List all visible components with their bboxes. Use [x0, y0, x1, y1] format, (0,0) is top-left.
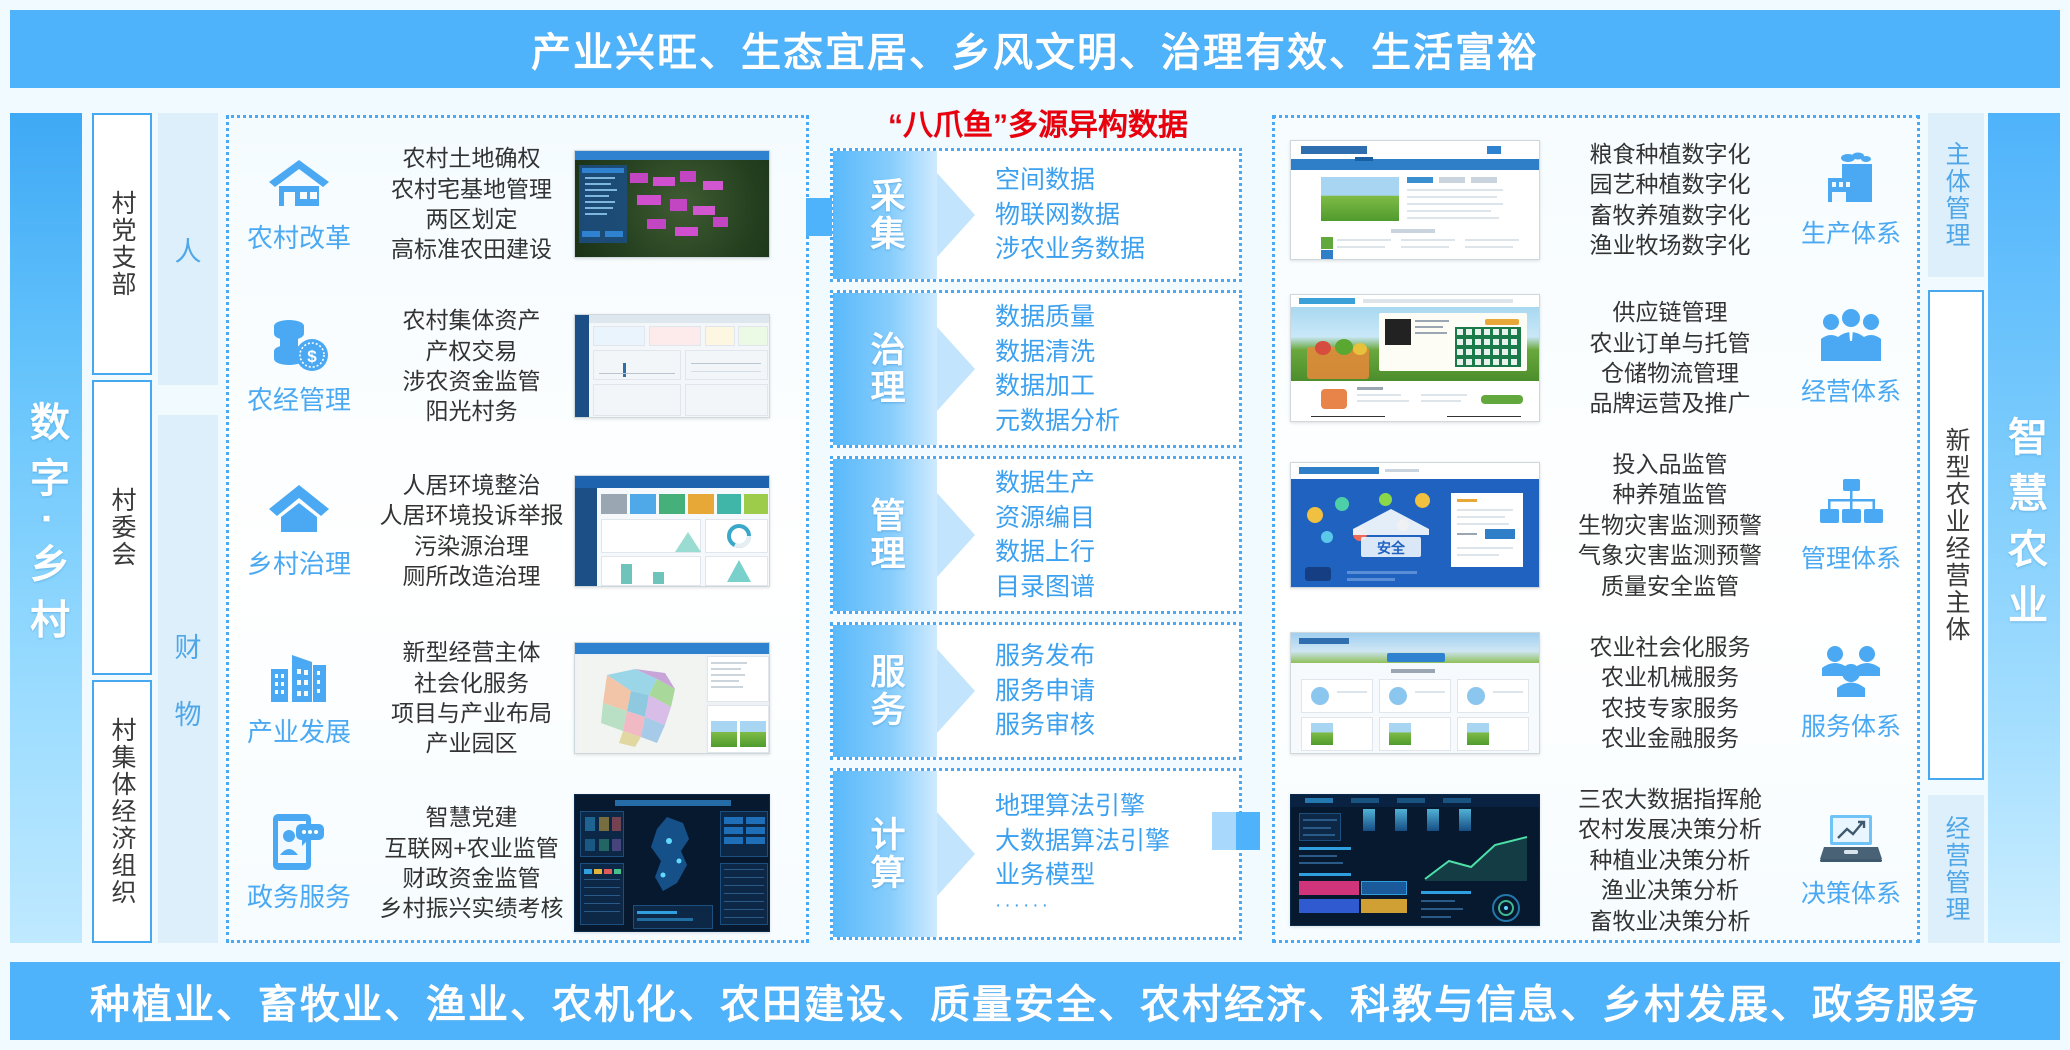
- smart-agriculture-title: 智慧农业: [1995, 416, 2053, 640]
- module-row-rural-governance[interactable]: 乡村治理 人居环境整治 人居环境投诉举报 污染源治理 厕所改造治理: [229, 448, 812, 613]
- stage-item: 服务审核: [995, 708, 1095, 743]
- stage-label-text: 治理: [860, 331, 911, 407]
- resource-char: 人: [175, 230, 202, 269]
- stage-govern[interactable]: 治理 数据质量 数据清洗 数据加工 元数据分析: [830, 290, 1242, 448]
- stage-item: 数据加工: [995, 369, 1120, 404]
- right-label-operation-management: 经营管理: [1928, 795, 1984, 943]
- module-caption: 产业发展: [247, 712, 351, 749]
- stage-item: 空间数据: [995, 163, 1145, 198]
- system-item: 粮食种植数字化: [1555, 139, 1785, 169]
- stage-label: 计算: [833, 771, 937, 937]
- module-screenshot-cell[interactable]: [574, 150, 812, 258]
- food-safety-campaign-screenshot[interactable]: 安全: [1290, 462, 1540, 588]
- group-people-icon: [1818, 308, 1884, 366]
- system-screenshot-cell[interactable]: [1275, 632, 1555, 754]
- system-item: 渔业决策分析: [1555, 875, 1785, 905]
- module-icon-cell: 农村改革: [229, 154, 369, 255]
- stage-label: 采集: [833, 151, 937, 279]
- stage-label-text: 管理: [860, 497, 911, 573]
- module-caption: 乡村治理: [247, 544, 351, 581]
- stage-item: 资源编目: [995, 501, 1095, 536]
- digital-village-title: 数字·乡村: [17, 401, 75, 654]
- three-users-icon: [1819, 643, 1883, 701]
- system-item: 园艺种植数字化: [1555, 169, 1785, 199]
- stage-label: 治理: [833, 293, 937, 445]
- system-item: 气象灾害监测预警: [1555, 540, 1785, 570]
- stage-item: 涉农业务数据: [995, 232, 1145, 267]
- system-icon-cell: 管理体系: [1785, 475, 1917, 575]
- system-icon-cell: 生产体系: [1785, 150, 1917, 250]
- stage-collect[interactable]: 采集 空间数据 物联网数据 涉农业务数据: [830, 148, 1242, 282]
- module-items: 农村集体资产 产权交易 涉农资金监管 阳光村务: [369, 305, 574, 426]
- system-item: 畜牧业决策分析: [1555, 906, 1785, 936]
- system-item: 畜牧养殖数字化: [1555, 200, 1785, 230]
- stage-label-text: 采集: [860, 177, 911, 253]
- new-agri-operator-label: 新型农业经营主体: [1938, 427, 1974, 643]
- system-screenshot-cell[interactable]: [1275, 294, 1555, 422]
- governance-dashboard-screenshot[interactable]: [574, 475, 770, 587]
- resource-column-people: 人: [158, 113, 218, 385]
- system-item: 投入品监管: [1555, 449, 1785, 479]
- village-modules-panel: 农村改革 农村土地确权 农村宅基地管理 两区划定 高标准农田建设: [226, 115, 809, 943]
- org-tree-icon: [1818, 475, 1884, 533]
- smart-agriculture-bar: 智慧农业: [1988, 113, 2060, 943]
- home-roof-icon: [267, 480, 331, 538]
- system-item: 质量安全监管: [1555, 571, 1785, 601]
- module-item: 产业园区: [369, 728, 574, 758]
- agri-portal-website-screenshot[interactable]: [1290, 140, 1540, 260]
- module-icon-cell: 政务服务: [229, 813, 369, 914]
- stage-item: 大数据算法引擎: [995, 824, 1170, 859]
- top-banner: 产业兴旺、生态宜居、乡风文明、治理有效、生活富裕: [10, 10, 2060, 88]
- new-agri-operator-box[interactable]: 新型农业经营主体: [1928, 290, 1984, 780]
- bottom-banner-text: 种植业、畜牧业、渔业、农机化、农田建设、质量安全、农村经济、科教与信息、乡村发展…: [90, 972, 1980, 1030]
- module-item: 产权交易: [369, 336, 574, 366]
- satellite-map-parcel-screenshot[interactable]: [574, 150, 770, 258]
- system-item: 种养殖监管: [1555, 479, 1785, 509]
- system-item: 农业机械服务: [1555, 662, 1785, 692]
- module-row-industry-development[interactable]: 产业发展 新型经营主体 社会化服务 项目与产业布局 产业园区: [229, 618, 812, 778]
- module-item: 涉农资金监管: [369, 366, 574, 396]
- system-caption: 生产体系: [1801, 214, 1901, 250]
- module-item: 两区划定: [369, 204, 574, 234]
- stage-item: ······: [995, 893, 1170, 919]
- module-screenshot-cell[interactable]: [574, 642, 812, 754]
- right-label-text: 主体管理: [1938, 141, 1974, 249]
- right-label-text: 经营管理: [1938, 815, 1974, 923]
- system-screenshot-cell[interactable]: 安全: [1275, 462, 1555, 588]
- module-item: 人居环境整治: [369, 470, 574, 500]
- org-box-village-committee[interactable]: 村委会: [92, 380, 152, 675]
- system-item: 农业金融服务: [1555, 723, 1785, 753]
- module-item: 互联网+农业监管: [369, 833, 574, 863]
- bottom-banner: 种植业、畜牧业、渔业、农机化、农田建设、质量安全、农村经济、科教与信息、乡村发展…: [10, 962, 2060, 1040]
- right-label-subject-management: 主体管理: [1928, 113, 1984, 277]
- module-items: 新型经营主体 社会化服务 项目与产业布局 产业园区: [369, 637, 574, 758]
- system-items: 农业社会化服务 农业机械服务 农技专家服务 农业金融服务: [1555, 632, 1785, 753]
- system-caption: 服务体系: [1801, 707, 1901, 743]
- module-item: 农村土地确权: [369, 143, 574, 173]
- system-items: 粮食种植数字化 园艺种植数字化 畜牧养殖数字化 渔业牧场数字化: [1555, 139, 1785, 260]
- digital-village-bar: 数字·乡村: [10, 113, 82, 943]
- module-item: 人居环境投诉举报: [369, 500, 574, 530]
- resource-char: 财: [175, 626, 202, 665]
- system-item: 农技专家服务: [1555, 693, 1785, 723]
- top-banner-text: 产业兴旺、生态宜居、乡风文明、治理有效、生活富裕: [531, 20, 1539, 78]
- system-icon-cell: 服务体系: [1785, 643, 1917, 743]
- module-item: 高标准农田建设: [369, 234, 574, 264]
- right-connector-tab: [1236, 812, 1260, 850]
- left-connector-tab: [806, 198, 832, 236]
- system-caption: 管理体系: [1801, 539, 1901, 575]
- province-map-screenshot[interactable]: [574, 642, 770, 754]
- module-items: 人居环境整治 人居环境投诉举报 污染源治理 厕所改造治理: [369, 470, 574, 591]
- stage-item: 数据上行: [995, 535, 1095, 570]
- org-box-collective-economy[interactable]: 村集体经济组织: [92, 680, 152, 943]
- org-box-label: 村党支部: [104, 190, 140, 298]
- resource-char: 物: [175, 693, 202, 732]
- org-box-label: 村集体经济组织: [104, 717, 140, 906]
- system-items: 供应链管理 农业订单与托管 仓储物流管理 品牌运营及推广: [1555, 297, 1785, 418]
- module-item: 厕所改造治理: [369, 561, 574, 591]
- factory-icon: [1820, 150, 1882, 208]
- system-row-operation[interactable]: 供应链管理 农业订单与托管 仓储物流管理 品牌运营及推广 经营体系: [1275, 278, 1917, 438]
- module-item: 污染源治理: [369, 531, 574, 561]
- module-item: 乡村振兴实绩考核: [369, 893, 574, 923]
- stage-label: 管理: [833, 459, 937, 611]
- stage-item: 数据质量: [995, 300, 1120, 335]
- system-row-decision[interactable]: 三农大数据指挥舱 农村发展决策分析 种植业决策分析 渔业决策分析 畜牧业决策分析…: [1275, 776, 1917, 944]
- stage-manage[interactable]: 管理 数据生产 资源编目 数据上行 目录图谱: [830, 456, 1242, 614]
- platform-column: “八爪鱼”多源异构数据 整合共享平台 采集 空间数据 物联网数据 涉农业务数据 …: [818, 100, 1258, 950]
- module-item: 农村集体资产: [369, 305, 574, 335]
- system-caption: 经营体系: [1801, 372, 1901, 408]
- system-item: 农业社会化服务: [1555, 632, 1785, 662]
- module-items: 农村土地确权 农村宅基地管理 两区划定 高标准农田建设: [369, 143, 574, 264]
- buildings-icon: [267, 648, 331, 706]
- org-box-party-branch[interactable]: 村党支部: [92, 113, 152, 375]
- stage-item: 数据生产: [995, 466, 1095, 501]
- system-items: 投入品监管 种养殖监管 生物灾害监测预警 气象灾害监测预警 质量安全监管: [1555, 449, 1785, 601]
- bigdata-cockpit-screenshot[interactable]: [1290, 794, 1540, 926]
- system-item: 仓储物流管理: [1555, 358, 1785, 388]
- svg-text:$: $: [307, 347, 317, 366]
- module-caption: 政务服务: [247, 877, 351, 914]
- stage-item: 服务申请: [995, 674, 1095, 709]
- stage-item: 元数据分析: [995, 404, 1120, 439]
- system-screenshot-cell[interactable]: [1275, 794, 1555, 926]
- module-item: 项目与产业布局: [369, 698, 574, 728]
- module-icon-cell: 乡村治理: [229, 480, 369, 581]
- stage-item: 地理算法引擎: [995, 789, 1170, 824]
- stage-label-text: 服务: [860, 653, 911, 729]
- traceability-qr-screenshot[interactable]: [1290, 294, 1540, 422]
- system-item: 生物灾害监测预警: [1555, 510, 1785, 540]
- module-icon-cell: 产业发展: [229, 648, 369, 749]
- resource-column-assets: 财 物: [158, 415, 218, 943]
- system-row-production[interactable]: 粮食种植数字化 园艺种植数字化 畜牧养殖数字化 渔业牧场数字化 生产体系: [1275, 122, 1917, 277]
- system-screenshot-cell[interactable]: [1275, 140, 1555, 260]
- module-caption: 农经管理: [247, 380, 351, 417]
- system-row-service[interactable]: 农业社会化服务 农业机械服务 农技专家服务 农业金融服务 服务体系: [1275, 610, 1917, 775]
- module-item: 社会化服务: [369, 668, 574, 698]
- system-item: 农村发展决策分析: [1555, 814, 1785, 844]
- system-items: 三农大数据指挥舱 农村发展决策分析 种植业决策分析 渔业决策分析 畜牧业决策分析: [1555, 784, 1785, 936]
- stage-service[interactable]: 服务 服务发布 服务申请 服务审核: [830, 622, 1242, 760]
- system-row-management[interactable]: 安全 投入品监管 种养殖监管 生物灾害监测预警 气象灾害监测预警 质量安全监管: [1275, 440, 1917, 610]
- house-icon: [267, 154, 331, 212]
- module-screenshot-cell[interactable]: [574, 475, 812, 587]
- right-connector-tab-light: [1212, 812, 1236, 850]
- dark-command-center-screenshot[interactable]: [574, 794, 770, 932]
- system-item: 农业订单与托管: [1555, 328, 1785, 358]
- module-item: 财政资金监管: [369, 863, 574, 893]
- module-item: 阳光村务: [369, 396, 574, 426]
- module-item: 农村宅基地管理: [369, 174, 574, 204]
- stage-item: 物联网数据: [995, 198, 1145, 233]
- system-item: 三农大数据指挥舱: [1555, 784, 1785, 814]
- laptop-chart-icon: [1818, 810, 1884, 868]
- service-platform-screenshot[interactable]: [1290, 632, 1540, 754]
- module-caption: 农村改革: [247, 218, 351, 255]
- coins-dollar-icon: $: [267, 316, 331, 374]
- org-box-label: 村委会: [104, 487, 140, 568]
- stage-label: 服务: [833, 625, 937, 757]
- asset-dashboard-screenshot[interactable]: [574, 314, 770, 418]
- system-item: 品牌运营及推广: [1555, 388, 1785, 418]
- system-item: 供应链管理: [1555, 297, 1785, 327]
- system-caption: 决策体系: [1801, 874, 1901, 910]
- stage-compute[interactable]: 计算 地理算法引擎 大数据算法引擎 业务模型 ······: [830, 768, 1242, 940]
- module-item: 智慧党建: [369, 802, 574, 832]
- module-screenshot-cell[interactable]: [574, 314, 812, 418]
- module-row-government-service[interactable]: 政务服务 智慧党建 互联网+农业监管 财政资金监管 乡村振兴实绩考核: [229, 783, 812, 943]
- module-items: 智慧党建 互联网+农业监管 财政资金监管 乡村振兴实绩考核: [369, 802, 574, 923]
- system-item: 渔业牧场数字化: [1555, 230, 1785, 260]
- stage-item: 目录图谱: [995, 570, 1095, 605]
- module-item: 新型经营主体: [369, 637, 574, 667]
- module-icon-cell: $ 农经管理: [229, 316, 369, 417]
- system-icon-cell: 经营体系: [1785, 308, 1917, 408]
- stage-item: 服务发布: [995, 639, 1095, 674]
- system-item: 种植业决策分析: [1555, 845, 1785, 875]
- smart-agriculture-panel: 粮食种植数字化 园艺种植数字化 畜牧养殖数字化 渔业牧场数字化 生产体系: [1272, 115, 1920, 943]
- module-screenshot-cell[interactable]: [574, 794, 812, 932]
- mobile-service-icon: [270, 813, 328, 871]
- platform-title-line1: “八爪鱼”多源异构数据: [818, 106, 1258, 146]
- system-icon-cell: 决策体系: [1785, 810, 1917, 910]
- module-row-rural-economy[interactable]: $ 农经管理 农村集体资产 产权交易 涉农资金监管 阳光村务: [229, 286, 812, 446]
- svg-text:安全: 安全: [1377, 540, 1406, 556]
- stage-item: 数据清洗: [995, 335, 1120, 370]
- stage-label-text: 计算: [860, 816, 911, 892]
- module-row-rural-reform[interactable]: 农村改革 农村土地确权 农村宅基地管理 两区划定 高标准农田建设: [229, 124, 812, 284]
- stage-item: 业务模型: [995, 858, 1170, 893]
